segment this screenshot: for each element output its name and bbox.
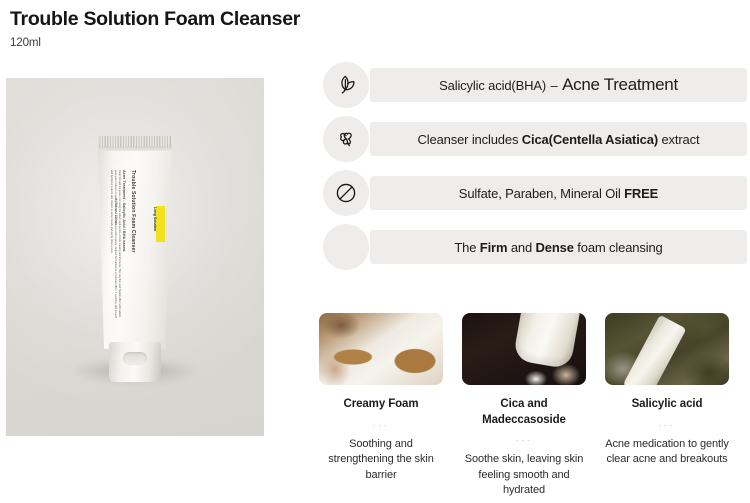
cica-dispensing-photo (462, 313, 586, 385)
page-title: Trouble Solution Foam Cleanser (10, 8, 310, 30)
benefit-card-description: Acne medication to gently clear acne and… (605, 437, 729, 468)
salicylic-acid-photo (605, 313, 729, 385)
feature-pill: Sulfate, Paraben, Mineral Oil FREE (370, 176, 747, 210)
benefit-card-separator: ··· (605, 421, 729, 430)
product-tube: Trouble Solution Foam Cleanser Acne Trea… (92, 136, 178, 384)
feature-segment-strong: Cica(Centella Asiatica) (522, 132, 658, 147)
tube-label-body: Clear through the pores, removing the se… (109, 170, 121, 320)
feature-segment-strong: FREE (624, 186, 658, 201)
feature-segment: The (454, 240, 479, 255)
feature-segment: foam cleansing (574, 240, 663, 255)
clover-icon (323, 116, 369, 162)
feature-list: Salicylic acid(BHA) – Acne Treatment Cle… (323, 62, 747, 278)
benefit-card: Cica and Madeccasoside ··· Soothe skin, … (462, 313, 586, 499)
tube-cap-notch (123, 352, 147, 365)
feature-row: The Firm and Dense foam cleansing (323, 224, 747, 270)
feature-segment: Cleanser includes (418, 132, 522, 147)
no-entry-icon (323, 170, 369, 216)
feature-segment: and (507, 240, 535, 255)
feature-segment: Sulfate, Paraben, Mineral Oil (459, 186, 624, 201)
benefit-card-title: Creamy Foam (319, 397, 443, 413)
creamy-foam-photo (319, 313, 443, 385)
feature-segment-strong: Firm (480, 240, 508, 255)
feature-segment: Salicylic acid(BHA) (439, 78, 546, 93)
tube-label-title: Trouble Solution Foam Cleanser (130, 170, 136, 320)
feature-pill: Salicylic acid(BHA) – Acne Treatment (370, 68, 747, 102)
feature-segment-dash: – (546, 78, 562, 93)
benefit-card-separator: ··· (319, 421, 443, 430)
feature-segment-emphasis: Acne Treatment (562, 75, 678, 94)
feature-segment-strong: Dense (536, 240, 574, 255)
benefit-card-list: Creamy Foam ··· Soothing and strengtheni… (319, 313, 743, 499)
tube-label: Trouble Solution Foam Cleanser Acne Trea… (123, 170, 137, 320)
product-volume: 120ml (10, 37, 310, 49)
product-image-panel: Trouble Solution Foam Cleanser Acne Trea… (6, 78, 264, 436)
tube-volume-text: 4.05 fl.oz / 120ml (114, 198, 118, 224)
benefit-card-description: Soothe skin, leaving skin feeling smooth… (462, 452, 586, 499)
blank-icon (323, 224, 369, 270)
benefit-card-separator: ··· (462, 436, 586, 445)
feature-segment: extract (658, 132, 699, 147)
feature-pill: Cleanser includes Cica(Centella Asiatica… (370, 122, 747, 156)
feature-text: Salicylic acid(BHA) – Acne Treatment (439, 75, 678, 95)
tube-label-subtitle: Acne Treatment - Salicylic Acid / BHA ba… (123, 170, 127, 320)
feature-text: The Firm and Dense foam cleansing (454, 240, 662, 255)
tube-brand-badge-text: Long Solution (153, 207, 157, 231)
product-detail-page: Trouble Solution Foam Cleanser 120ml Tro… (0, 0, 750, 503)
benefit-card: Salicylic acid ··· Acne medication to ge… (605, 313, 729, 499)
leaf-icon (323, 62, 369, 108)
benefit-card-title: Cica and Madeccasoside (462, 397, 586, 428)
feature-row: Salicylic acid(BHA) – Acne Treatment (323, 62, 747, 108)
feature-text: Cleanser includes Cica(Centella Asiatica… (418, 132, 700, 147)
feature-row: Sulfate, Paraben, Mineral Oil FREE (323, 170, 747, 216)
benefit-card-description: Soothing and strengthening the skin barr… (319, 437, 443, 484)
tube-brand-badge: Long Solution (156, 206, 165, 242)
benefit-card-title: Salicylic acid (605, 397, 729, 413)
benefit-card: Creamy Foam ··· Soothing and strengtheni… (319, 313, 443, 499)
product-header: Trouble Solution Foam Cleanser 120ml (10, 8, 310, 49)
tube-cap (109, 342, 161, 382)
feature-text: Sulfate, Paraben, Mineral Oil FREE (459, 186, 658, 201)
feature-row: Cleanser includes Cica(Centella Asiatica… (323, 116, 747, 162)
feature-pill: The Firm and Dense foam cleansing (370, 230, 747, 264)
